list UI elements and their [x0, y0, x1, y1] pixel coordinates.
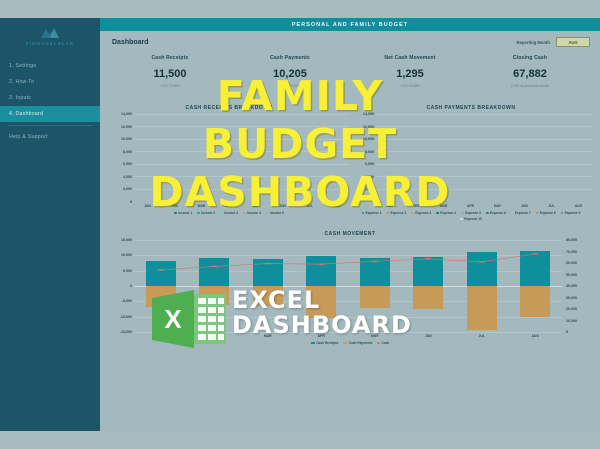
legend-label: Expense 4: [440, 211, 456, 215]
y-axis-right: 80,00070,00060,00050,00040,00030,00020,0…: [562, 240, 592, 332]
axis-tick: MAY: [360, 334, 390, 338]
axis-tick: 30,000: [566, 296, 577, 300]
axis-tick: 14,000: [121, 112, 132, 116]
legend-item[interactable]: Expense 1: [362, 211, 382, 215]
bar-receipts: [253, 259, 283, 286]
axis-tick: 2,000: [365, 187, 374, 191]
kpi-value: 10,205: [230, 68, 350, 80]
axis-tick: 70,000: [566, 250, 577, 254]
axis-tick: -5,000: [122, 299, 132, 303]
bar-column: [146, 240, 176, 332]
axis-tick: 0: [566, 330, 568, 334]
bar-column: [253, 240, 283, 332]
bar-group: [376, 114, 592, 201]
axis-tick: 4,000: [365, 175, 374, 179]
legend-label: Cash Payments: [349, 341, 373, 345]
axis-tick: 8,000: [123, 150, 132, 154]
legend-swatch: [486, 212, 489, 215]
main-panel: PERSONAL AND FAMILY BUDGET Dashboard Rep…: [100, 18, 600, 431]
gridline: [134, 201, 350, 202]
legend-item[interactable]: Expense 5: [461, 211, 481, 215]
axis-tick: JAN: [140, 204, 155, 208]
bar-group: [134, 114, 350, 201]
legend-item[interactable]: Expense 10: [460, 217, 482, 221]
app-banner: PERSONAL AND FAMILY BUDGET: [100, 18, 600, 31]
legend-swatch: [511, 212, 514, 215]
chart-legend: Cash ReceiptsCash PaymentsCash: [108, 341, 592, 345]
kpi-value: 1,295: [350, 68, 470, 80]
legend-item[interactable]: Expense 8: [536, 211, 556, 215]
legend-label: Expense 9: [565, 211, 581, 215]
chart-title: CASH RECEIPTS BREAKDOWN: [108, 105, 350, 111]
y-axis: 14,00012,00010,0008,0006,0004,0002,0000: [108, 114, 134, 202]
x-axis: JANFEBMARAPRMAYJUNJULAUG: [108, 204, 350, 208]
kpi-value: 67,882: [470, 68, 590, 80]
axis-tick: JUL: [467, 334, 497, 338]
reporting-month-value: AUG: [568, 40, 577, 45]
axis-tick: 2,000: [123, 187, 132, 191]
sidebar: FINMODELSLAB 1. Settings 2. How To 3. In…: [0, 18, 100, 431]
sidebar-item-label: Help & Support: [9, 134, 48, 140]
kpi-subtext: 2.3% vs previous month: [470, 84, 590, 88]
logo-text: FINMODELSLAB: [6, 41, 94, 46]
axis-tick: MAR: [253, 334, 283, 338]
legend-swatch: [197, 212, 200, 215]
plot-canvas: [134, 240, 562, 332]
kpi-subtext: YTD 62,927: [230, 84, 350, 88]
axis-tick: 0: [130, 200, 132, 204]
reporting-month-control: Reporting Month AUG: [517, 37, 591, 47]
legend-swatch: [362, 212, 365, 215]
axis-tick: 6,000: [123, 162, 132, 166]
gridline: [376, 201, 592, 202]
y-axis-left: 15,00010,0005,0000-5,000-10,000-15,000: [108, 240, 134, 332]
kpi-net-cash-movement: Net Cash Movement 1,295 YTD 10,883: [350, 53, 470, 105]
axis-tick: 80,000: [566, 238, 577, 242]
legend-label: Expense 7: [515, 211, 531, 215]
app-logo: FINMODELSLAB: [0, 18, 100, 50]
legend-swatch: [343, 342, 347, 345]
sidebar-divider: [7, 125, 93, 126]
legend-swatch: [460, 218, 463, 221]
axis-tick: FEB: [409, 204, 424, 208]
legend-label: Income 5: [270, 211, 284, 215]
bar-payments: [146, 286, 176, 307]
legend-item[interactable]: Expense 4: [436, 211, 456, 215]
kpi-cash-payments: Cash Payments 10,205 YTD 62,927: [230, 53, 350, 105]
sidebar-item-label: 2. How To: [9, 79, 34, 85]
plot-area: 14,00012,00010,0008,0006,0004,0002,0000: [108, 114, 350, 202]
legend-swatch: [411, 212, 414, 215]
legend-item[interactable]: Expense 7: [511, 211, 531, 215]
legend-swatch: [386, 212, 389, 215]
sidebar-item-label: 1. Settings: [9, 63, 36, 69]
chart-cash-receipts-breakdown: CASH RECEIPTS BREAKDOWN 14,00012,00010,0…: [108, 105, 350, 227]
axis-tick: -10,000: [120, 315, 132, 319]
legend-label: Expense 3: [415, 211, 431, 215]
sidebar-item-dashboard[interactable]: 4. Dashboard: [0, 106, 100, 122]
axis-tick: JUN: [413, 334, 443, 338]
kpi-label: Net Cash Movement: [350, 55, 470, 61]
legend-item[interactable]: Income 3: [220, 211, 238, 215]
bar-payments: [253, 286, 283, 306]
kpi-subtext: YTD 73,810: [110, 84, 230, 88]
bar-payments: [467, 286, 497, 330]
legend-item[interactable]: Expense 2: [386, 211, 406, 215]
bar-payments: [306, 286, 336, 318]
axis-tick: JUL: [544, 204, 559, 208]
bar-payments: [360, 286, 390, 308]
plot-canvas: [376, 114, 592, 202]
sidebar-item-inputs[interactable]: 3. Inputs: [0, 90, 100, 106]
axis-tick: AUG: [571, 204, 586, 208]
bar-payments: [413, 286, 443, 309]
legend-item[interactable]: Income 2: [197, 211, 215, 215]
axis-tick: 10,000: [121, 137, 132, 141]
bar-payments: [199, 286, 229, 305]
reporting-month-select[interactable]: AUG: [556, 37, 590, 47]
axis-tick: AUG: [520, 334, 550, 338]
axis-tick: JAN: [382, 204, 397, 208]
legend-label: Income 2: [201, 211, 215, 215]
x-axis: JANFEBMARAPRMAYJUNJULAUG: [108, 334, 592, 338]
axis-tick: 50,000: [566, 273, 577, 277]
legend-label: Expense 8: [540, 211, 556, 215]
legend-swatch: [461, 212, 464, 215]
legend-swatch: [220, 212, 223, 215]
legend-label: Expense 5: [465, 211, 481, 215]
bar-receipts: [413, 257, 443, 286]
axis-tick: MAY: [490, 204, 505, 208]
axis-tick: APR: [221, 204, 236, 208]
axis-tick: JAN: [146, 334, 176, 338]
kpi-row: Cash Receipts 11,500 YTD 73,810 Cash Pay…: [100, 53, 600, 105]
axis-tick: 12,000: [121, 125, 132, 129]
legend-item[interactable]: Cash Receipts: [311, 341, 338, 345]
bar-receipts: [146, 261, 176, 286]
sidebar-item-label: 4. Dashboard: [9, 111, 43, 117]
legend-item[interactable]: Cash Payments: [343, 341, 372, 345]
axis-tick: MAR: [194, 204, 209, 208]
sidebar-item-how-to[interactable]: 2. How To: [0, 74, 100, 90]
bar-receipts: [467, 252, 497, 286]
legend-item[interactable]: Income 4: [243, 211, 261, 215]
x-axis: JANFEBMARAPRMAYJUNJULAUG: [350, 204, 592, 208]
legend-label: Cash: [382, 341, 390, 345]
breakdown-charts-row: CASH RECEIPTS BREAKDOWN 14,00012,00010,0…: [100, 105, 600, 227]
axis-tick: 10,000: [121, 253, 132, 257]
bar-column: [360, 240, 390, 332]
kpi-value: 11,500: [110, 68, 230, 80]
chart-cash-payments-breakdown: CASH PAYMENTS BREAKDOWN 14,00012,00010,0…: [350, 105, 592, 227]
axis-tick: APR: [306, 334, 336, 338]
legend-label: Income 1: [178, 211, 192, 215]
legend-label: Expense 1: [366, 211, 382, 215]
bar-receipts: [360, 258, 390, 286]
sidebar-nav: 1. Settings 2. How To 3. Inputs 4. Dashb…: [0, 58, 100, 145]
legend-swatch: [561, 212, 564, 215]
axis-tick: 60,000: [566, 261, 577, 265]
reporting-month-label: Reporting Month: [517, 40, 551, 45]
axis-tick: 40,000: [566, 284, 577, 288]
axis-tick: 0: [130, 284, 132, 288]
sidebar-item-label: 3. Inputs: [9, 95, 31, 101]
axis-tick: 10,000: [363, 137, 374, 141]
bar-receipts: [306, 256, 336, 286]
legend-swatch: [536, 212, 539, 215]
axis-tick: AUG: [329, 204, 344, 208]
axis-tick: 0: [372, 200, 374, 204]
sidebar-item-settings[interactable]: 1. Settings: [0, 58, 100, 74]
kpi-subtext: YTD 10,883: [350, 84, 470, 88]
legend-item[interactable]: Income 5: [266, 211, 284, 215]
legend-item[interactable]: Expense 9: [561, 211, 581, 215]
legend-item[interactable]: Income 1: [174, 211, 192, 215]
axis-tick: 12,000: [363, 125, 374, 129]
axis-tick: 4,000: [123, 175, 132, 179]
axis-tick: MAR: [436, 204, 451, 208]
legend-item[interactable]: Expense 6: [486, 211, 506, 215]
bar-receipts: [199, 258, 229, 286]
axis-tick: JUN: [275, 204, 290, 208]
axis-tick: -15,000: [120, 330, 132, 334]
legend-swatch: [243, 212, 246, 215]
axis-tick: FEB: [167, 204, 182, 208]
gridline: [134, 332, 562, 333]
kpi-label: Closing Cash: [470, 55, 590, 61]
axis-tick: 8,000: [365, 150, 374, 154]
axis-tick: 6,000: [365, 162, 374, 166]
legend-item[interactable]: Cash: [377, 341, 389, 345]
legend-swatch: [311, 342, 315, 345]
axis-tick: 5,000: [123, 269, 132, 273]
chart-cash-movement: CASH MOVEMENT 15,00010,0005,0000-5,000-1…: [100, 227, 600, 355]
kpi-label: Cash Receipts: [110, 55, 230, 61]
legend-swatch: [174, 212, 177, 215]
legend-label: Expense 2: [391, 211, 407, 215]
chart-title: CASH MOVEMENT: [108, 231, 592, 237]
bar-payments: [520, 286, 550, 317]
plot-area: 14,00012,00010,0008,0006,0004,0002,0000: [350, 114, 592, 202]
axis-tick: APR: [463, 204, 478, 208]
bar-receipts: [520, 251, 550, 286]
mountain-chart-icon: [39, 26, 61, 39]
legend-item[interactable]: Expense 3: [411, 211, 431, 215]
bar-group: [134, 240, 562, 332]
bar-column: [306, 240, 336, 332]
y-axis: 14,00012,00010,0008,0006,0004,0002,0000: [350, 114, 376, 202]
kpi-closing-cash: Closing Cash 67,882 2.3% vs previous mon…: [470, 53, 590, 105]
bar-column: [520, 240, 550, 332]
legend-label: Income 3: [224, 211, 238, 215]
page-title: Dashboard: [112, 39, 149, 46]
axis-tick: JUL: [302, 204, 317, 208]
page-header: Dashboard Reporting Month AUG: [100, 31, 600, 53]
plot-area: 15,00010,0005,0000-5,000-10,000-15,000 8…: [108, 240, 592, 332]
axis-tick: 15,000: [121, 238, 132, 242]
legend-label: Expense 6: [490, 211, 506, 215]
axis-tick: 10,000: [566, 319, 577, 323]
bar-column: [199, 240, 229, 332]
axis-tick: 14,000: [363, 112, 374, 116]
plot-canvas: [134, 114, 350, 202]
legend-label: Expense 10: [464, 217, 482, 221]
banner-title: PERSONAL AND FAMILY BUDGET: [292, 22, 408, 28]
legend-swatch: [377, 342, 380, 345]
axis-tick: MAY: [248, 204, 263, 208]
legend-swatch: [266, 212, 269, 215]
legend-swatch: [436, 212, 439, 215]
kpi-label: Cash Payments: [230, 55, 350, 61]
legend-label: Cash Receipts: [316, 341, 338, 345]
kpi-cash-receipts: Cash Receipts 11,500 YTD 73,810: [110, 53, 230, 105]
bar-column: [467, 240, 497, 332]
axis-tick: 20,000: [566, 307, 577, 311]
axis-tick: JUN: [517, 204, 532, 208]
axis-tick: FEB: [199, 334, 229, 338]
bar-column: [413, 240, 443, 332]
sidebar-item-help-support[interactable]: Help & Support: [0, 129, 100, 145]
dashboard-screenshot: FINMODELSLAB 1. Settings 2. How To 3. In…: [0, 0, 600, 449]
chart-legend: Income 1Income 2Income 3Income 4Income 5: [108, 211, 350, 215]
chart-title: CASH PAYMENTS BREAKDOWN: [350, 105, 592, 111]
legend-label: Income 4: [247, 211, 261, 215]
chart-legend: Expense 1Expense 2Expense 3Expense 4Expe…: [350, 211, 592, 221]
